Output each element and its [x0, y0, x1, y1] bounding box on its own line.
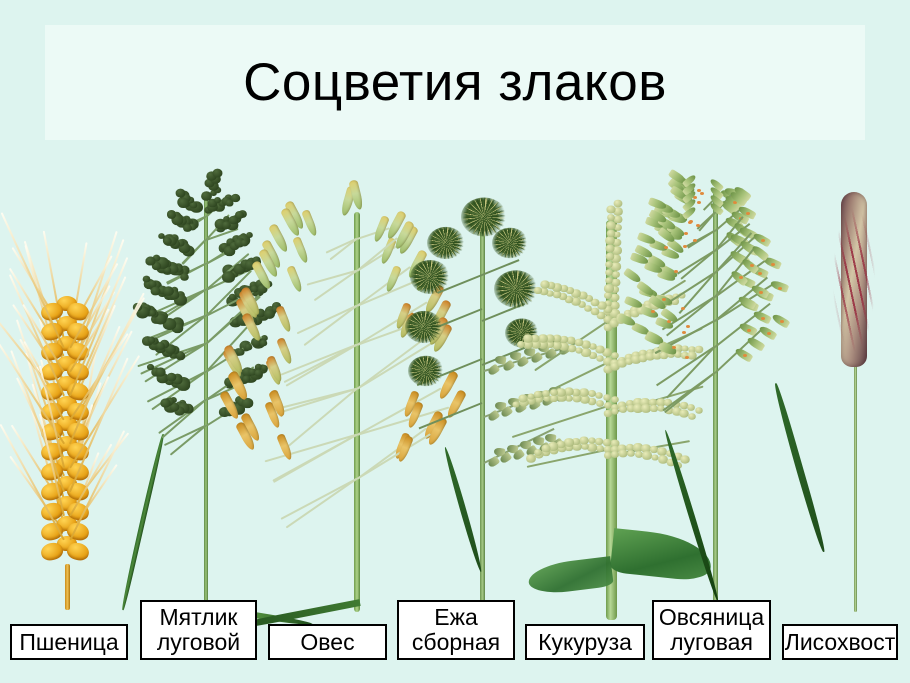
fescue-anther — [771, 263, 775, 266]
oat-spikelet — [302, 209, 320, 237]
maize-spikelet — [603, 438, 611, 445]
plant-label-maize-line1: Кукуруза — [538, 630, 632, 655]
fescue-anther — [758, 272, 762, 275]
maize-spikelet — [605, 277, 612, 283]
maize-leaf-left — [527, 556, 614, 596]
oat-pedicel — [307, 270, 357, 286]
fescue-anther — [689, 220, 693, 223]
cocksfoot-spikelet-cluster — [427, 227, 465, 259]
bluegrass-spikelet — [246, 232, 253, 238]
bluegrass-spikelet — [143, 275, 151, 282]
bluegrass-spikelet — [214, 197, 221, 203]
bluegrass-spikelet — [222, 271, 235, 283]
foxtail-bristles — [830, 190, 878, 370]
bluegrass-spikelet — [241, 239, 249, 246]
bluegrass-spikelet — [160, 398, 170, 407]
fescue-anther — [761, 239, 765, 242]
page-title: Соцветия злаков — [243, 52, 667, 113]
plant-illustration-foxtail — [810, 192, 900, 612]
fescue-anther — [746, 212, 750, 215]
fescue-anther — [664, 246, 668, 249]
plant-label-fescue[interactable]: Овсяница луговая — [652, 600, 771, 660]
fescue-anther — [683, 245, 687, 248]
maize-spikelet — [605, 253, 613, 260]
plant-label-fescue-line2: луговая — [670, 630, 753, 655]
bluegrass-spikelet — [155, 367, 165, 376]
maize-spikelet — [566, 395, 573, 401]
plant-label-oat-line1: Овес — [300, 630, 354, 655]
maize-spikelet — [588, 438, 595, 444]
oat-pedicel — [356, 238, 397, 272]
bluegrass-stem — [204, 192, 208, 612]
fescue-anther — [778, 287, 782, 290]
bluegrass-spikelet — [147, 364, 154, 370]
maize-spikelet — [612, 408, 619, 414]
maize-spikelet — [588, 390, 596, 397]
maize-spikelet — [585, 305, 592, 312]
fescue-anther — [697, 201, 701, 204]
oat-pedicel — [286, 479, 358, 529]
maize-spikelet — [542, 390, 550, 397]
maize-spikelet — [603, 394, 610, 400]
cocksfoot-branch — [419, 402, 483, 429]
fescue-spikelet — [746, 336, 766, 352]
maize-spikelet — [606, 229, 614, 236]
fescue-anther — [682, 331, 686, 334]
cocksfoot-spikelet-cluster — [410, 260, 450, 294]
cocksfoot-spikelet-cluster — [405, 311, 443, 343]
fescue-anther — [780, 320, 784, 323]
plant-illustration-wheat — [8, 270, 128, 610]
maize-spikelet — [596, 400, 604, 407]
maize-spikelet — [527, 394, 534, 400]
fescue-anther — [747, 329, 751, 332]
fescue-anther — [767, 332, 771, 335]
fescue-spikelet — [769, 279, 789, 293]
maize-spikelet — [534, 287, 542, 294]
bluegrass-spikelet — [180, 273, 189, 281]
title-banner: Соцветия злаков — [45, 25, 865, 140]
oat-pedicel — [281, 478, 358, 520]
bluegrass-spikelet — [147, 337, 155, 344]
bluegrass-spikelet — [230, 194, 239, 202]
bluegrass-spikelet — [254, 369, 262, 376]
maize-spikelet — [603, 410, 611, 417]
plant-label-bluegrass-line1: Мятлик — [160, 605, 238, 630]
maize-spikelet — [590, 308, 599, 316]
maize-spikelet — [574, 339, 583, 347]
oat-spikelet — [276, 337, 294, 365]
maize-spikelet — [575, 347, 582, 353]
plant-label-cocksfoot[interactable]: Ежа сборная — [397, 600, 515, 660]
maize-spikelet — [627, 451, 634, 458]
plant-label-wheat-line1: Пшеница — [19, 630, 118, 655]
maize-spikelet — [611, 352, 618, 358]
maize-spikelet — [550, 389, 558, 396]
fescue-anther — [681, 307, 685, 310]
plant-label-foxtail[interactable]: Лисохвост — [782, 624, 898, 660]
plant-label-fescue-line1: Овсяница — [659, 605, 764, 630]
maize-branch — [512, 404, 612, 438]
bluegrass-spikelet — [163, 286, 174, 296]
maize-spikelet — [619, 407, 627, 414]
fescue-anther — [686, 325, 690, 328]
maize-spikelet — [596, 392, 603, 398]
bluegrass-spikelet — [235, 211, 244, 219]
plant-label-oat[interactable]: Овес — [268, 624, 387, 660]
plant-label-foxtail-line1: Лисохвост — [785, 630, 896, 655]
maize-spikelet — [581, 444, 588, 451]
maize-spikelet — [552, 291, 561, 298]
maize-spikelet — [612, 271, 620, 278]
maize-spikelet — [606, 245, 615, 253]
oat-pedicel — [297, 305, 358, 334]
maize-spikelet — [541, 445, 550, 453]
fescue-anther — [697, 189, 701, 192]
plant-illustration-fescue — [645, 172, 815, 612]
oat-spikelet — [292, 236, 310, 264]
cocksfoot-leaf — [442, 446, 484, 573]
fescue-anther — [750, 264, 754, 267]
maize-spikelet — [607, 214, 615, 221]
oat-spikelet — [287, 265, 305, 293]
plant-label-cocksfoot-line2: сборная — [412, 630, 500, 655]
bluegrass-spikelet — [213, 168, 223, 177]
plant-label-maize[interactable]: Кукуруза — [525, 624, 645, 660]
fescue-stem — [713, 192, 718, 612]
plant-label-cocksfoot-line1: Ежа — [434, 605, 478, 630]
bluegrass-spikelet — [243, 375, 251, 382]
plant-label-bluegrass[interactable]: Мятлик луговой — [140, 600, 257, 660]
fescue-anther — [684, 232, 688, 235]
cocksfoot-spikelet-cluster — [408, 356, 444, 387]
maize-spikelet — [596, 445, 604, 452]
bluegrass-spikelet — [146, 256, 156, 265]
plant-label-wheat[interactable]: Пшеница — [10, 624, 128, 660]
fescue-anther — [685, 356, 689, 359]
oat-pedicel — [286, 345, 358, 388]
maize-spikelet — [611, 396, 618, 403]
maize-spikelet — [540, 281, 549, 289]
wheat-grain — [65, 541, 90, 563]
maize-spikelet — [614, 200, 623, 208]
maize-spikelet — [595, 438, 603, 445]
bluegrass-spikelet — [184, 224, 193, 232]
wheat-stem — [65, 564, 70, 610]
illustration-row — [0, 150, 910, 630]
fescue-branch — [688, 231, 716, 249]
slide-canvas: Соцветия злаков — [0, 0, 910, 683]
oat-spikelet — [275, 305, 293, 333]
plant-label-bluegrass-line2: луговой — [157, 630, 240, 655]
maize-spikelet — [595, 345, 604, 353]
maize-spikelet — [534, 449, 542, 456]
fescue-anther — [700, 192, 704, 195]
